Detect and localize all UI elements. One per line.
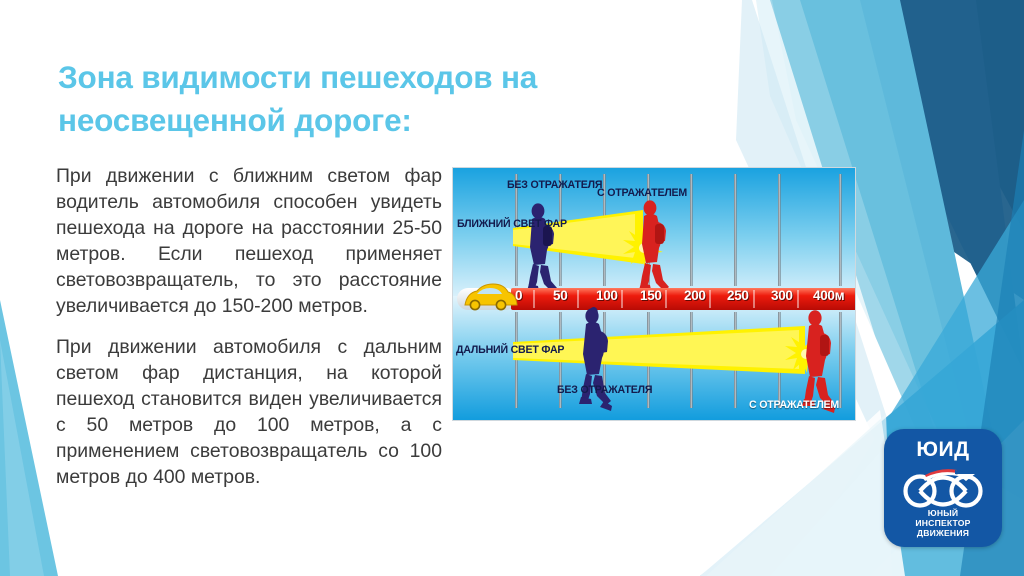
label-with-reflector-top: С ОТРАЖАТЕЛЕМ (597, 187, 687, 200)
scale-tick-400: 400м (813, 288, 844, 303)
label-no-reflector-top: БЕЗ ОТРАЖАТЕЛЯ (507, 179, 583, 192)
bg-shape-bottomleft-triangle (0, 300, 58, 576)
bg-shape-darkblue-top (900, 0, 1024, 232)
label-low-beam: БЛИЖНИЙ СВЕТ ФАР (457, 218, 515, 231)
label-no-reflector-bottom: БЕЗ ОТРАЖАТЕЛЯ (557, 384, 631, 397)
logo-title: ЮИД (884, 438, 1002, 462)
scale-tick-250: 250 (727, 288, 749, 303)
scale-tick-50: 50 (553, 288, 567, 303)
body-text-column: При движении с ближним светом фар водите… (56, 163, 442, 490)
bg-shape-bottomleft-pale (0, 340, 44, 576)
bg-shape-bottom-sliver (706, 414, 892, 576)
scale-tick-200: 200 (684, 288, 706, 303)
scale-tick-150: 150 (640, 288, 662, 303)
bicycle-infinity-icon (895, 462, 991, 510)
visibility-diagram: БЕЗ ОТРАЖАТЕЛЯ С ОТРАЖАТЕЛЕМ БЛИЖНИЙ СВЕ… (452, 167, 856, 421)
scale-tick-100: 100 (596, 288, 618, 303)
logo-subtitle-line-1: ЮНЫЙ (884, 508, 1002, 518)
paragraph-2: При движении автомобиля с дальним светом… (56, 334, 442, 491)
scale-tick-0: 0 (515, 288, 522, 303)
label-high-beam: ДАЛЬНИЙ СВЕТ ФАР (456, 344, 514, 357)
page-title: Зона видимости пешеходов на неосвещенной… (58, 56, 668, 143)
scale-tick-300: 300 (771, 288, 793, 303)
bg-shape-steel-top (858, 0, 1024, 372)
logo-subtitle: ЮНЫЙ ИНСПЕКТОР ДВИЖЕНИЯ (884, 508, 1002, 538)
logo-subtitle-line-2: ИНСПЕКТОР (884, 518, 1002, 528)
yuid-logo: ЮИД ЮНЫЙ ИНСПЕКТОР ДВИЖЕНИЯ (884, 429, 1002, 547)
label-with-reflector-bottom: С ОТРАЖАТЕЛЕМ (749, 399, 839, 412)
paragraph-1: При движении с ближним светом фар водите… (56, 163, 442, 320)
logo-subtitle-line-3: ДВИЖЕНИЯ (884, 528, 1002, 538)
slide-canvas: Зона видимости пешеходов на неосвещенной… (0, 0, 1024, 576)
bg-shape-bottom-white-wedge (700, 410, 905, 576)
